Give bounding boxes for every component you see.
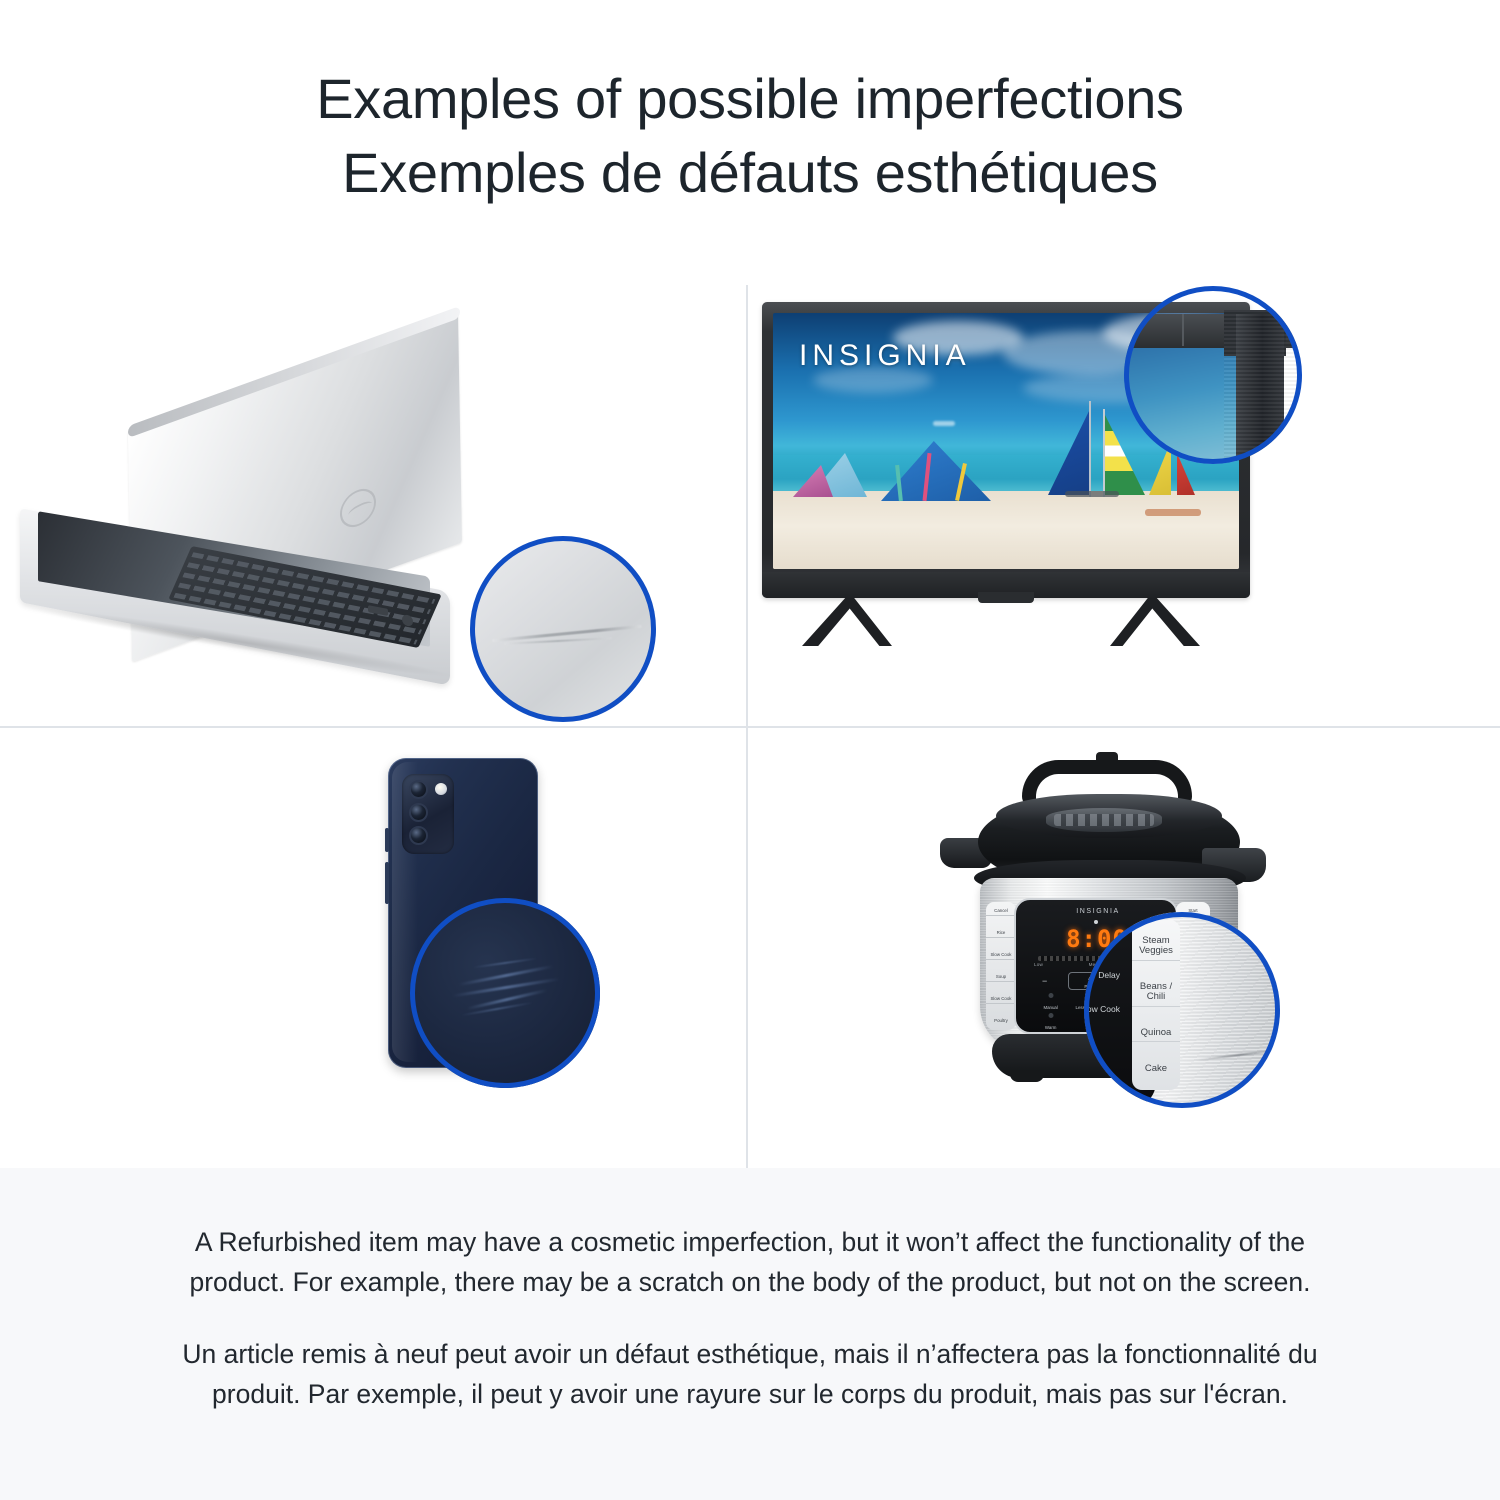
cooker-left-button[interactable]: Slow Cook <box>986 951 1016 960</box>
title-french: Exemples de défauts esthétiques <box>0 136 1500 210</box>
tv-magnified-seam-defect <box>1182 314 1184 346</box>
phone-button-power <box>385 862 389 904</box>
cooker-magnifier-content: Delay Slow Cook Steam Veggies Beans / Ch… <box>1084 912 1280 1108</box>
camera-lens-1 <box>409 780 428 799</box>
tv-magnifier-content <box>1124 286 1302 464</box>
phone-camera-module <box>402 774 454 854</box>
cooker-illustration: Cancel Rice Slow Cook Soup Slow Cook Pou… <box>934 752 1314 1122</box>
example-pressure-cooker: Cancel Rice Slow Cook Soup Slow Cook Pou… <box>748 728 1500 1168</box>
cooker-magnified-left-label: Delay <box>1084 958 1120 992</box>
caption-section: A Refurbished item may have a cosmetic i… <box>0 1168 1500 1500</box>
cooker-key[interactable]: Manual <box>1028 992 1073 1010</box>
tv-logo-nub <box>978 592 1034 603</box>
camera-lens-3 <box>409 826 428 845</box>
tv-screen-logo: INSIGNIA <box>799 339 971 373</box>
cooker-key[interactable]: Warm <box>1028 1012 1073 1030</box>
cooker-left-button[interactable]: Poultry <box>986 1017 1016 1025</box>
caption-english: A Refurbished item may have a cosmetic i… <box>160 1222 1340 1302</box>
examples-grid: INSIGNIA <box>0 258 1500 1168</box>
title-english: Examples of possible imperfections <box>0 62 1500 136</box>
cooker-magnified-button: Beans / Chili <box>1132 979 1180 1007</box>
laptop-magnifier-content <box>470 536 656 722</box>
cooker-magnified-button: Cake <box>1132 1061 1180 1077</box>
laptop-illustration <box>20 368 540 668</box>
page-title: Examples of possible imperfections Exemp… <box>0 62 1500 210</box>
cooker-left-button-column[interactable]: Cancel Rice Slow Cook Soup Slow Cook Pou… <box>986 902 1016 1030</box>
cooker-magnified-button: Steam Veggies <box>1132 933 1180 961</box>
phone-button-volume <box>385 828 389 852</box>
example-phone <box>0 728 746 1168</box>
example-laptop <box>0 258 746 726</box>
tv-illustration: INSIGNIA <box>762 302 1262 672</box>
cooker-left-button[interactable]: Soup <box>986 973 1016 982</box>
cooker-left-button[interactable]: Cancel <box>986 907 1016 916</box>
phone-illustration <box>358 758 578 1098</box>
caption-french: Un article remis à neuf peut avoir un dé… <box>160 1334 1340 1414</box>
tv-magnified-grain <box>1224 310 1302 464</box>
cooker-foot-left <box>1010 1070 1044 1082</box>
cooker-left-button[interactable]: Rice <box>986 929 1016 938</box>
tv-scene-beach <box>773 491 1239 569</box>
camera-flash-icon <box>435 783 447 795</box>
camera-lens-2 <box>409 803 428 822</box>
phone-magnifier-content <box>410 898 600 1088</box>
cooker-lid-vent <box>1046 808 1162 832</box>
tv-magnified-panel <box>1124 344 1240 464</box>
cooker-magnified-left-label: Slow Cook <box>1084 992 1120 1026</box>
cooker-magnified-button-column: Steam Veggies Beans / Chili Quinoa Cake <box>1132 920 1180 1090</box>
example-tv: INSIGNIA <box>748 258 1500 726</box>
phone-scratch-4 <box>472 957 538 968</box>
cooker-magnified-button: Quinoa <box>1132 1025 1180 1042</box>
pressure-label-low: Low <box>1034 962 1043 967</box>
tv-foot-left <box>802 598 892 646</box>
tv-foot-right <box>1110 598 1200 646</box>
cooker-decrease-button[interactable]: − <box>1042 976 1047 986</box>
cooker-magnified-left-labels: Delay Slow Cook <box>1084 958 1120 1026</box>
cooker-left-button[interactable]: Slow Cook <box>986 995 1016 1004</box>
refurbished-imperfections-infographic: Examples of possible imperfections Exemp… <box>0 0 1500 1500</box>
